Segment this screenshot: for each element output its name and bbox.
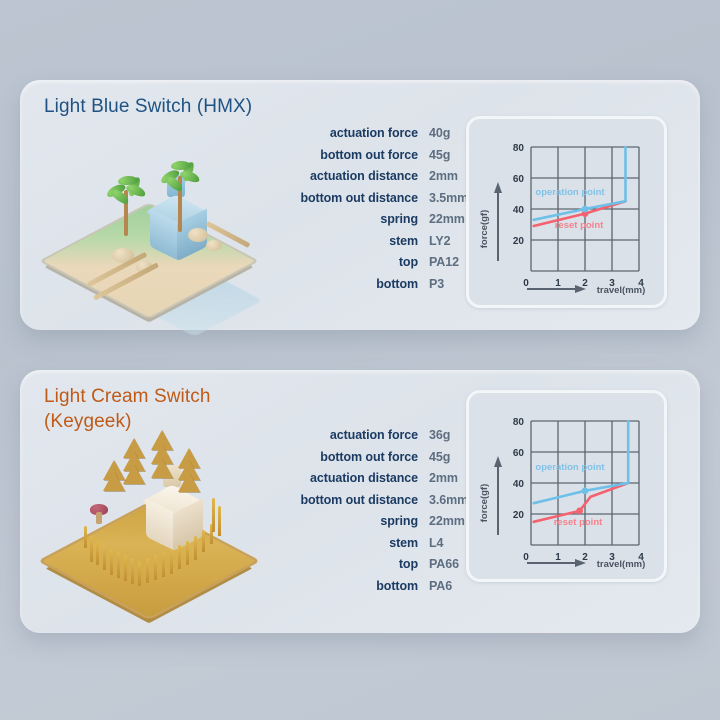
wheat-stalk (103, 545, 106, 570)
wheat-stalk (146, 558, 149, 583)
spec-value: 3.6mm (429, 493, 468, 507)
spec-row: bottom out distance 3.6mm (268, 493, 468, 507)
wheat-stalk (212, 498, 215, 532)
force-travel-chart-svg: force(gf) travel(mm) 80 60 40 20 0 1 2 3 (469, 393, 664, 579)
x-tick-label: 2 (582, 552, 588, 563)
wheat-stalk (186, 541, 189, 565)
spec-row: top PA66 (268, 557, 468, 571)
rock-icon (206, 240, 222, 251)
spec-row: bottom P3 (268, 277, 468, 291)
reset-point-marker (576, 508, 583, 515)
y-tick-label: 80 (513, 143, 525, 154)
spec-value: 45g (429, 450, 450, 464)
wheat-stalk (131, 558, 134, 584)
spec-value: 36g (429, 428, 450, 442)
wheat-stalk (178, 545, 181, 569)
x-tick-label: 4 (638, 552, 644, 563)
card-title: Light Blue Switch (HMX) (44, 94, 252, 119)
spec-label: bottom out force (268, 148, 418, 162)
illustration-stage (60, 128, 275, 288)
spec-value: PA12 (429, 255, 459, 269)
wheat-stalk (110, 549, 113, 575)
y-tick-label: 80 (513, 417, 525, 428)
reset-point-annotation: reset point (554, 517, 603, 528)
wheat-stalk (84, 526, 87, 548)
spec-label: actuation force (268, 126, 418, 140)
spec-row: actuation force 40g (268, 126, 468, 140)
operation-point-annotation: operation point (535, 187, 605, 198)
spec-row: bottom out distance 3.5mm (268, 191, 468, 205)
wheat-stalk (162, 552, 165, 577)
x-tick-label: 4 (638, 278, 644, 289)
force-travel-chart-svg: force(gf) travel(mm) 80 60 40 20 0 (469, 119, 664, 305)
spec-value: 2mm (429, 471, 458, 485)
spec-label: stem (268, 536, 418, 550)
spec-row: actuation force 36g (268, 428, 468, 442)
force-travel-chart: force(gf) travel(mm) 80 60 40 20 0 1 2 3 (466, 390, 667, 582)
spec-list: actuation force 36g bottom out force 45g… (268, 428, 468, 600)
spec-label: spring (268, 212, 418, 226)
spec-label: top (268, 557, 418, 571)
y-tick-label: 20 (513, 510, 525, 521)
spec-list: actuation force 40g bottom out force 45g… (268, 126, 468, 298)
y-tick-label: 40 (513, 205, 525, 216)
palm-tree-icon (104, 170, 150, 234)
x-tick-label: 3 (609, 278, 615, 289)
spec-label: bottom out distance (268, 493, 418, 507)
spec-row: spring 22mm (268, 514, 468, 528)
y-axis-label: force(gf) (479, 210, 490, 249)
x-tick-label: 1 (555, 278, 561, 289)
switch-card-light-cream: Light Cream Switch (Keygeek) (20, 370, 700, 633)
spec-value: PA6 (429, 579, 452, 593)
product-illustration-wheat-field (60, 428, 275, 588)
wheat-stalk (90, 536, 93, 562)
reset-point-curve (534, 483, 629, 522)
illustration-stage (60, 428, 275, 588)
spec-label: actuation force (268, 428, 418, 442)
spec-row: spring 22mm (268, 212, 468, 226)
wheat-stalk (124, 555, 127, 581)
spec-value: 2mm (429, 169, 458, 183)
wheat-stalk (96, 541, 99, 565)
spec-label: bottom out force (268, 450, 418, 464)
y-axis-label: force(gf) (479, 484, 490, 523)
spec-row: stem LY2 (268, 234, 468, 248)
palm-tree-icon (158, 156, 204, 228)
spec-value: 45g (429, 148, 450, 162)
force-travel-chart: force(gf) travel(mm) 80 60 40 20 0 (466, 116, 667, 308)
conifer-tree-icon (150, 430, 174, 488)
y-tick-label: 20 (513, 236, 525, 247)
spec-label: top (268, 255, 418, 269)
spec-label: spring (268, 514, 418, 528)
x-tick-label: 1 (555, 552, 561, 563)
y-tick-label: 60 (513, 174, 525, 185)
spec-value: L4 (429, 536, 443, 550)
spec-label: bottom out distance (268, 191, 418, 205)
operation-point-annotation: operation point (535, 462, 605, 473)
wheat-stalk (218, 506, 221, 536)
x-tick-label: 3 (609, 552, 615, 563)
spec-label: actuation distance (268, 169, 418, 183)
y-tick-label: 40 (513, 479, 525, 490)
spec-label: stem (268, 234, 418, 248)
spec-value: P3 (429, 277, 444, 291)
wheat-stalk (194, 536, 197, 560)
operation-point-marker (582, 487, 589, 494)
spec-label: actuation distance (268, 471, 418, 485)
spec-value: PA66 (429, 557, 459, 571)
conifer-tree-icon (104, 460, 124, 502)
spec-label: bottom (268, 277, 418, 291)
spec-value: LY2 (429, 234, 450, 248)
wheat-stalk (202, 530, 205, 552)
conifer-tree-icon (122, 438, 146, 492)
x-tick-label: 2 (582, 278, 588, 289)
spec-row: actuation distance 2mm (268, 169, 468, 183)
wheat-stalk (170, 549, 173, 574)
y-axis-arrow (494, 182, 502, 261)
x-tick-label: 0 (523, 278, 529, 289)
wheat-stalk (154, 555, 157, 580)
spec-row: top PA12 (268, 255, 468, 269)
y-axis-arrow (494, 456, 502, 535)
x-tick-label: 0 (523, 552, 529, 563)
y-tick-label: 60 (513, 448, 525, 459)
spec-value: 22mm (429, 514, 465, 528)
spec-row: stem L4 (268, 536, 468, 550)
spec-label: bottom (268, 579, 418, 593)
mushroom-icon (90, 504, 112, 526)
operation-point-marker (582, 206, 589, 213)
switch-card-light-blue: Light Blue Switch (HMX) (20, 80, 700, 330)
conifer-tree-icon (178, 448, 200, 496)
product-illustration-palm-island (60, 128, 275, 288)
spec-row: actuation distance 2mm (268, 471, 468, 485)
rock-icon (188, 228, 208, 242)
wheat-stalk (138, 561, 141, 586)
spec-value: 40g (429, 126, 450, 140)
card-title: Light Cream Switch (Keygeek) (44, 384, 211, 434)
spec-row: bottom out force 45g (268, 450, 468, 464)
spec-value: 22mm (429, 212, 465, 226)
wheat-stalk (117, 552, 120, 578)
spec-row: bottom PA6 (268, 579, 468, 593)
spec-value: 3.5mm (429, 191, 468, 205)
reset-point-annotation: reset point (555, 220, 604, 231)
spec-row: bottom out force 45g (268, 148, 468, 162)
